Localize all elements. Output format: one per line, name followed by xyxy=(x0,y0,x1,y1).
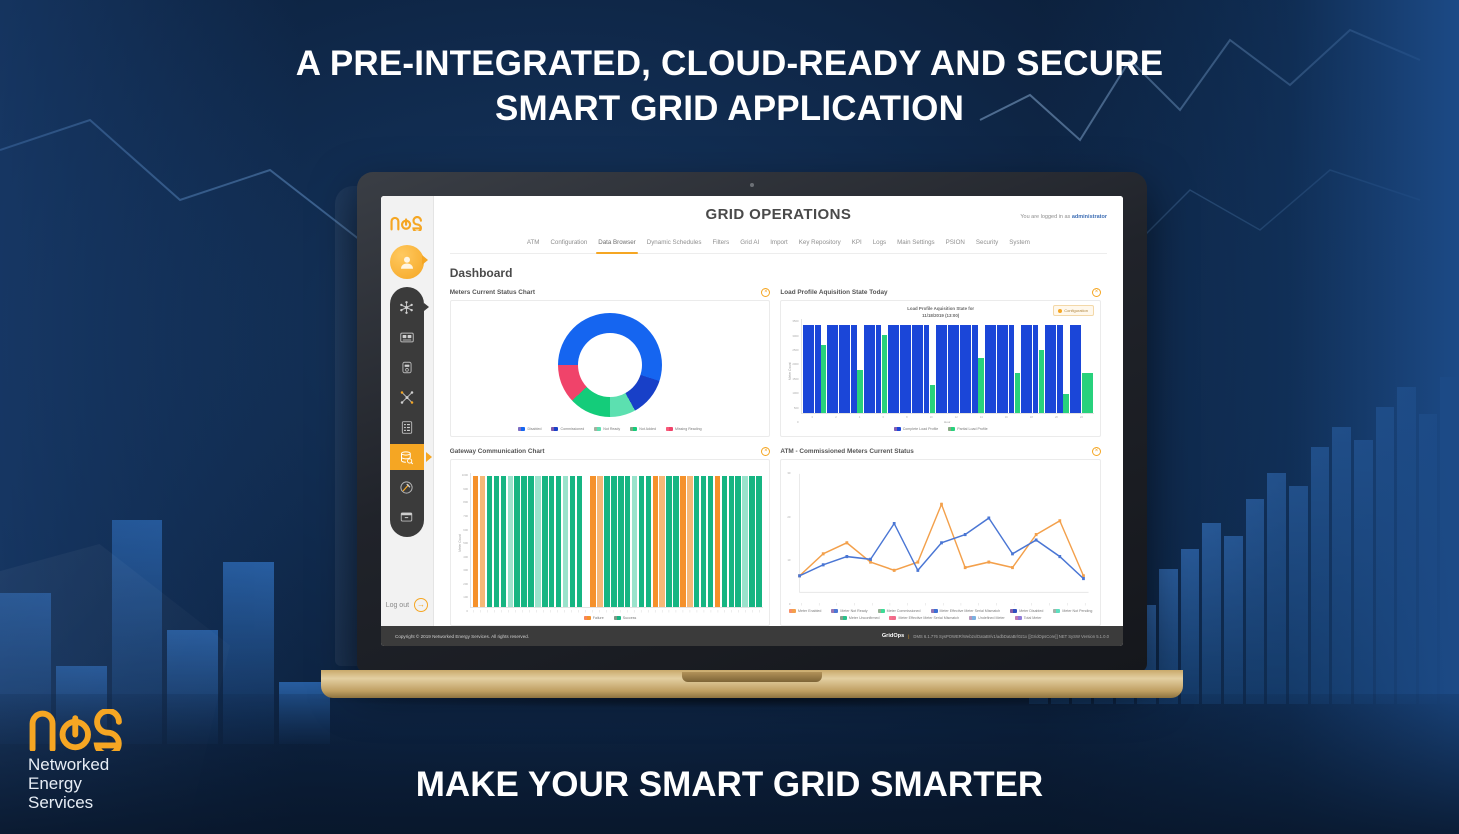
tab-data-browser[interactable]: Data Browser xyxy=(598,239,635,249)
legend-label: Undefined Meter xyxy=(978,616,1005,620)
legend-label: Missing Reading xyxy=(675,427,702,431)
bar xyxy=(1045,325,1056,414)
panel-title: Meters Current Status Chart xyxy=(450,289,535,296)
data-point[interactable] xyxy=(917,569,920,572)
bar xyxy=(1009,325,1014,414)
gear-icon xyxy=(1058,309,1062,313)
bar-group[interactable] xyxy=(900,319,912,413)
legend-label: Commissioned xyxy=(560,427,584,431)
bar[interactable] xyxy=(570,476,576,607)
legend-label: Not Ready xyxy=(603,427,620,431)
data-point[interactable] xyxy=(822,552,825,555)
axis-tick: 800 xyxy=(462,500,468,504)
bar-group[interactable] xyxy=(948,319,960,413)
configuration-button[interactable]: Configuration xyxy=(1053,305,1094,316)
plot-area: Meter Count 1000900800700600500400300200… xyxy=(457,465,764,613)
chart-subtitle-line-1: Load Profile Aquisition State for xyxy=(787,306,1094,313)
bar xyxy=(815,325,820,414)
legend-swatch xyxy=(840,616,847,620)
bar xyxy=(972,325,977,414)
bar xyxy=(827,325,838,414)
brand-line-2: Energy xyxy=(28,774,128,793)
bar[interactable] xyxy=(611,476,617,607)
sidebar-item-archive[interactable] xyxy=(394,504,420,530)
logged-in-user: administrator xyxy=(1072,214,1107,220)
app-sidebar: Log out → xyxy=(381,196,434,626)
bar-group[interactable] xyxy=(851,319,863,413)
legend-swatch xyxy=(584,616,591,620)
sidebar-item-meter[interactable] xyxy=(394,354,420,380)
panel-gateway-communication: Gateway Communication Chart × Meter Coun… xyxy=(450,447,771,626)
data-point[interactable] xyxy=(941,503,944,506)
bar[interactable] xyxy=(687,476,693,607)
single-meter-icon xyxy=(400,360,414,375)
dashboard-title: Dashboard xyxy=(434,254,1123,288)
bar[interactable] xyxy=(701,476,707,607)
panel-header: ATM - Commissioned Meters Current Status… xyxy=(780,447,1101,459)
network-nodes-icon xyxy=(399,300,414,315)
bar-series[interactable] xyxy=(801,319,1094,414)
legend-item[interactable]: Commissioned xyxy=(551,427,584,431)
logout-arrow-icon: → xyxy=(414,598,428,612)
panel-body: Meter Count 1000900800700600500400300200… xyxy=(450,459,771,626)
plot-area: 3020100 ||||||||||||||||| xyxy=(787,465,1094,606)
panel-meters-current-status: Meters Current Status Chart × DisabledCo… xyxy=(450,288,771,437)
legend-item[interactable]: Meter Not Pending xyxy=(1053,609,1092,613)
data-point[interactable] xyxy=(846,555,849,558)
bar-group[interactable] xyxy=(1020,319,1032,413)
bar[interactable] xyxy=(722,476,728,607)
bar xyxy=(888,325,899,414)
webcam-icon xyxy=(750,183,754,187)
bar-group[interactable] xyxy=(1057,319,1069,413)
legend-label: Meter Effective Meter Serial Mismatch xyxy=(898,616,959,620)
tab-atm[interactable]: ATM xyxy=(527,239,540,249)
bar[interactable] xyxy=(494,476,500,607)
line-path xyxy=(800,518,1084,579)
data-point[interactable] xyxy=(799,574,802,577)
sidebar-item-network[interactable] xyxy=(394,294,420,320)
bar xyxy=(803,325,814,414)
bar xyxy=(839,325,850,414)
footer-version-info: GridOps | DMS 6.1.776 SysPOWER/Web2x/Dat… xyxy=(882,633,1109,639)
bar[interactable] xyxy=(666,476,672,607)
headline-line-1: A PRE-INTEGRATED, CLOUD-READY AND SECURE xyxy=(0,42,1459,87)
footer-copyright: Copyright © 2019 Networked Energy Servic… xyxy=(395,634,529,639)
bar xyxy=(1082,373,1093,413)
bar[interactable] xyxy=(549,476,555,607)
tab-grid-ai[interactable]: Grid AI xyxy=(740,239,759,249)
close-icon[interactable]: × xyxy=(1092,288,1101,297)
bar xyxy=(900,325,911,414)
bar[interactable] xyxy=(556,476,562,607)
data-point[interactable] xyxy=(893,522,896,525)
legend-swatch xyxy=(1015,616,1022,620)
axis-tick: 1000 xyxy=(792,391,798,395)
bar[interactable] xyxy=(508,476,514,607)
close-icon[interactable]: × xyxy=(1092,447,1101,456)
data-point[interactable] xyxy=(893,569,896,572)
bar xyxy=(864,325,875,414)
bar[interactable] xyxy=(673,476,679,607)
legend-item[interactable]: Meter Commissioned xyxy=(878,609,921,613)
legend-swatch xyxy=(614,616,621,620)
bar[interactable] xyxy=(542,476,548,607)
data-point[interactable] xyxy=(964,566,967,569)
legend-item[interactable]: Partial Load Profile xyxy=(948,427,987,431)
legend-label: Meter Commissioned xyxy=(887,609,921,613)
bar-group[interactable] xyxy=(936,319,948,413)
bar xyxy=(912,325,923,414)
panel-atm-commissioned-meters: ATM - Commissioned Meters Current Status… xyxy=(780,447,1101,626)
bar[interactable] xyxy=(680,476,686,607)
app-header: GRID OPERATIONS You are logged in as adm… xyxy=(434,196,1123,254)
tab-filters[interactable]: Filters xyxy=(712,239,729,249)
chart-subtitle: Load Profile Aquisition State for 11/18/… xyxy=(787,306,1094,319)
legend-item[interactable]: Meter Enabled xyxy=(789,609,821,613)
brand-line-3: Services xyxy=(28,793,128,812)
user-avatar-icon xyxy=(398,253,416,271)
data-point[interactable] xyxy=(1012,552,1015,555)
bar xyxy=(948,325,959,414)
configuration-label: Configuration xyxy=(1064,308,1088,313)
data-point[interactable] xyxy=(1059,519,1062,522)
bar xyxy=(1033,325,1038,414)
legend-label: Meter Enabled xyxy=(798,609,821,613)
axis-tick: 100 xyxy=(462,595,468,599)
legend-swatch xyxy=(666,427,673,431)
axis-tick: 3000 xyxy=(792,334,798,338)
axis-tick: 300 xyxy=(462,568,468,572)
bar[interactable] xyxy=(749,476,755,607)
bar xyxy=(1063,394,1068,413)
app-logo[interactable] xyxy=(390,216,424,231)
bar xyxy=(1015,373,1020,413)
axis-tick: 30 xyxy=(787,471,790,475)
legend-item[interactable]: Meter Not Ready xyxy=(831,609,867,613)
bar-group[interactable] xyxy=(923,319,935,413)
bar-group[interactable] xyxy=(912,319,924,413)
slide-tagline: MAKE YOUR SMART GRID SMARTER xyxy=(0,764,1459,806)
bar[interactable] xyxy=(756,476,762,607)
axis-tick: 600 xyxy=(462,528,468,532)
bar-group[interactable] xyxy=(1008,319,1020,413)
panel-body: 3020100 ||||||||||||||||| Meter EnabledM… xyxy=(780,459,1101,626)
bar[interactable] xyxy=(597,476,603,607)
axis-tick: 10 xyxy=(787,558,790,562)
panel-load-profile-aquisition: Load Profile Aquisition State Today × Lo… xyxy=(780,288,1101,437)
bar[interactable] xyxy=(715,476,721,607)
dashboard-panels: Meters Current Status Chart × DisabledCo… xyxy=(434,288,1123,626)
bar xyxy=(821,345,826,413)
bar xyxy=(960,325,971,414)
data-point[interactable] xyxy=(1083,577,1086,580)
bar[interactable] xyxy=(521,476,527,607)
bar-group[interactable] xyxy=(984,319,996,413)
tab-system[interactable]: System xyxy=(1009,239,1030,249)
legend-swatch xyxy=(1053,609,1060,613)
plot-area: Meter Count 3500300025002000150010005000… xyxy=(787,319,1094,424)
sidebar-item-topology[interactable] xyxy=(394,384,420,410)
nes-brand-words: Networked Energy Services xyxy=(28,755,128,812)
bar[interactable] xyxy=(604,476,610,607)
bar xyxy=(851,325,856,413)
bar xyxy=(936,325,947,414)
bar[interactable] xyxy=(535,476,541,607)
panel-body: DisabledCommissionedNot ReadyNot AddedMi… xyxy=(450,300,771,437)
nes-brand-logo: Networked Energy Services xyxy=(28,709,128,812)
logout-label: Log out xyxy=(386,602,409,609)
data-point[interactable] xyxy=(846,541,849,544)
legend-swatch xyxy=(1010,609,1017,613)
bar xyxy=(930,385,935,413)
legend-item[interactable]: Failure xyxy=(584,616,604,620)
y-axis-ticks: 10009008007006005004003002001000 xyxy=(462,473,470,613)
line-path xyxy=(800,504,1084,576)
axis-tick: 1500 xyxy=(792,377,798,381)
slide-headline: A PRE-INTEGRATED, CLOUD-READY AND SECURE… xyxy=(0,42,1459,132)
legend-item[interactable]: Not Added xyxy=(630,427,656,431)
data-point[interactable] xyxy=(1012,566,1015,569)
bar xyxy=(882,335,887,413)
tools-icon xyxy=(399,480,414,495)
tab-configuration[interactable]: Configuration xyxy=(550,239,587,249)
bar-series[interactable] xyxy=(470,473,763,608)
y-axis-label: Meter Count xyxy=(787,319,792,424)
chart-subtitle-line-2: 11/18/2019 (13:00) xyxy=(787,313,1094,320)
data-point[interactable] xyxy=(1059,555,1062,558)
brand-line-1: Networked xyxy=(28,755,128,774)
legend-label: Success xyxy=(623,616,637,620)
nes-logo-icon xyxy=(390,216,424,231)
panel-body: Load Profile Aquisition State for 11/18/… xyxy=(780,300,1101,437)
logout-button[interactable]: Log out → xyxy=(386,598,428,612)
bar-group[interactable] xyxy=(888,319,900,413)
axis-tick: 2500 xyxy=(792,348,798,352)
bar[interactable] xyxy=(632,476,638,607)
bar[interactable] xyxy=(729,476,735,607)
data-point[interactable] xyxy=(1035,539,1038,542)
legend-item[interactable]: Undefined Meter xyxy=(969,616,1005,620)
bar[interactable] xyxy=(618,476,624,607)
line-series[interactable] xyxy=(792,471,1094,601)
axis-tick: 700 xyxy=(462,514,468,518)
bar xyxy=(997,325,1008,414)
sidebar-item-data-browser[interactable] xyxy=(390,444,424,470)
tab-kpi[interactable]: KPI xyxy=(852,239,862,249)
logged-in-status: You are logged in as administrator xyxy=(1020,214,1107,220)
avatar[interactable] xyxy=(390,245,424,279)
legend-label: Meter Not Ready xyxy=(840,609,867,613)
laptop-stand xyxy=(682,672,822,682)
legend-label: Meter Effective Meter Serial Mismatch xyxy=(940,609,1001,613)
bar[interactable] xyxy=(646,476,652,607)
panel-title: Load Profile Aquisition State Today xyxy=(780,289,887,296)
legend-item[interactable]: Not Ready xyxy=(594,427,620,431)
bar-group[interactable] xyxy=(875,319,887,413)
data-point[interactable] xyxy=(964,533,967,536)
laptop-screen: Log out → GRID OPERATIONS You are logged… xyxy=(381,196,1123,646)
axis-tick: 200 xyxy=(462,582,468,586)
bar-group[interactable] xyxy=(972,319,984,413)
legend-label: Partial Load Profile xyxy=(957,427,987,431)
legend-swatch xyxy=(551,427,558,431)
panel-header: Gateway Communication Chart × xyxy=(450,447,771,459)
bar[interactable] xyxy=(653,476,659,607)
bar[interactable] xyxy=(659,476,665,607)
legend-item[interactable]: Missing Reading xyxy=(666,427,702,431)
main-nav: ATM Configuration Data Browser Dynamic S… xyxy=(450,239,1107,254)
chart-legend: Meter EnabledMeter Not ReadyMeter Commis… xyxy=(787,606,1094,620)
gridops-application: Log out → GRID OPERATIONS You are logged… xyxy=(381,196,1123,626)
bar[interactable] xyxy=(473,476,479,607)
legend-swatch xyxy=(969,616,976,620)
sidebar-item-devices[interactable] xyxy=(394,324,420,350)
chart-legend: DisabledCommissionedNot ReadyNot AddedMi… xyxy=(457,424,764,431)
panel-header: Meters Current Status Chart × xyxy=(450,288,771,300)
axis-tick: 2000 xyxy=(792,362,798,366)
panel-header: Load Profile Aquisition State Today × xyxy=(780,288,1101,300)
sidebar-item-reports[interactable] xyxy=(394,414,420,440)
data-point[interactable] xyxy=(1035,533,1038,536)
legend-label: Failure xyxy=(593,616,604,620)
legend-item[interactable]: Disabled xyxy=(518,427,541,431)
close-icon[interactable]: × xyxy=(761,447,770,456)
bar[interactable] xyxy=(735,476,741,607)
page-title: GRID OPERATIONS xyxy=(450,206,1107,223)
footer-version: DMS 6.1.776 SysPOWER/Web2x/DataBr/v1/adb… xyxy=(913,634,1109,639)
data-browser-icon xyxy=(399,450,414,465)
legend-item[interactable]: Meter Unconfirmed xyxy=(840,616,880,620)
legend-label: Complete Load Profile xyxy=(903,427,939,431)
data-point[interactable] xyxy=(822,563,825,566)
legend-item[interactable]: Meter Effective Meter Serial Mismatch xyxy=(931,609,1001,613)
data-point[interactable] xyxy=(917,561,920,564)
legend-swatch xyxy=(518,427,525,431)
archive-icon xyxy=(399,510,414,524)
app-footer: Copyright © 2019 Networked Energy Servic… xyxy=(381,626,1123,646)
bar[interactable] xyxy=(708,476,714,607)
legend-item[interactable]: Success xyxy=(614,616,637,620)
legend-item[interactable]: Complete Load Profile xyxy=(894,427,939,431)
axis-tick: 20 xyxy=(787,515,790,519)
bar[interactable] xyxy=(590,476,596,607)
topology-icon xyxy=(399,390,415,405)
legend-item[interactable]: Meter Disabled xyxy=(1010,609,1043,613)
tab-dynamic-schedules[interactable]: Dynamic Schedules xyxy=(647,239,702,249)
donut-chart[interactable] xyxy=(558,313,662,417)
donut-chart-wrap xyxy=(457,306,764,424)
bar[interactable] xyxy=(742,476,748,607)
meter-device-icon xyxy=(399,330,415,345)
chart-legend: Complete Load ProfilePartial Load Profil… xyxy=(787,424,1094,431)
bar xyxy=(978,358,983,413)
bar[interactable] xyxy=(625,476,631,607)
data-point[interactable] xyxy=(870,558,873,561)
tab-key-repository[interactable]: Key Repository xyxy=(799,239,841,249)
chart-legend: FailureSuccess xyxy=(457,613,764,620)
legend-item[interactable]: Meter Effective Meter Serial Mismatch xyxy=(889,616,959,620)
bar-group[interactable] xyxy=(803,319,815,413)
bar xyxy=(857,370,862,413)
headline-line-2: SMART GRID APPLICATION xyxy=(0,87,1459,132)
data-point[interactable] xyxy=(988,517,991,520)
bar-group[interactable] xyxy=(1081,319,1093,413)
sidebar-item-tools[interactable] xyxy=(394,474,420,500)
bar-group[interactable] xyxy=(815,319,827,413)
tab-main-settings[interactable]: Main Settings xyxy=(897,239,935,249)
bar[interactable] xyxy=(514,476,520,607)
legend-label: Meter Disabled xyxy=(1019,609,1043,613)
bar-group[interactable] xyxy=(839,319,851,413)
legend-swatch xyxy=(831,609,838,613)
legend-swatch xyxy=(630,427,637,431)
bar-group[interactable] xyxy=(1032,319,1044,413)
y-axis-ticks: 3500300025002000150010005000 xyxy=(792,319,800,424)
bar[interactable] xyxy=(528,476,534,607)
bar-group[interactable] xyxy=(1069,319,1081,413)
bar[interactable] xyxy=(563,476,569,607)
bar xyxy=(924,325,929,414)
data-point[interactable] xyxy=(870,561,873,564)
bar xyxy=(985,325,996,414)
nes-wordmark-icon xyxy=(28,709,128,751)
tab-psion[interactable]: PSION xyxy=(946,239,965,249)
sidebar-icon-rail xyxy=(390,287,424,537)
tab-logs[interactable]: Logs xyxy=(873,239,886,249)
bar[interactable] xyxy=(501,476,507,607)
data-point[interactable] xyxy=(941,541,944,544)
panel-title: Gateway Communication Chart xyxy=(450,448,545,455)
bar[interactable] xyxy=(639,476,645,607)
bar-group[interactable] xyxy=(1045,319,1057,413)
app-main: GRID OPERATIONS You are logged in as adm… xyxy=(434,196,1123,626)
footer-separator: | xyxy=(908,634,909,639)
legend-swatch xyxy=(789,609,796,613)
data-point[interactable] xyxy=(988,561,991,564)
bar-group[interactable] xyxy=(996,319,1008,413)
bar xyxy=(876,325,881,414)
legend-swatch xyxy=(894,427,901,431)
axis-tick: 900 xyxy=(462,487,468,491)
bar xyxy=(1057,325,1062,414)
bar[interactable] xyxy=(694,476,700,607)
bar[interactable] xyxy=(480,476,486,607)
legend-swatch xyxy=(878,609,885,613)
legend-swatch xyxy=(889,616,896,620)
laptop-lid: Log out → GRID OPERATIONS You are logged… xyxy=(357,172,1147,672)
list-report-icon xyxy=(400,420,414,435)
footer-brand: GridOps xyxy=(882,633,904,639)
legend-label: Disabled xyxy=(527,427,541,431)
bar[interactable] xyxy=(487,476,493,607)
axis-lines xyxy=(800,474,1089,593)
close-icon[interactable]: × xyxy=(761,288,770,297)
bar-group[interactable] xyxy=(960,319,972,413)
tab-import[interactable]: Import xyxy=(770,239,788,249)
bar[interactable] xyxy=(577,476,583,607)
axis-tick: 400 xyxy=(462,555,468,559)
legend-item[interactable]: Total Meter xyxy=(1015,616,1042,620)
tab-security[interactable]: Security xyxy=(976,239,998,249)
legend-label: Total Meter xyxy=(1024,616,1042,620)
panel-title: ATM - Commissioned Meters Current Status xyxy=(780,448,913,455)
bar-group[interactable] xyxy=(827,319,839,413)
logged-in-prefix: You are logged in as xyxy=(1020,214,1071,220)
legend-label: Not Added xyxy=(639,427,656,431)
bar-group[interactable] xyxy=(863,319,875,413)
legend-label: Meter Unconfirmed xyxy=(849,616,880,620)
